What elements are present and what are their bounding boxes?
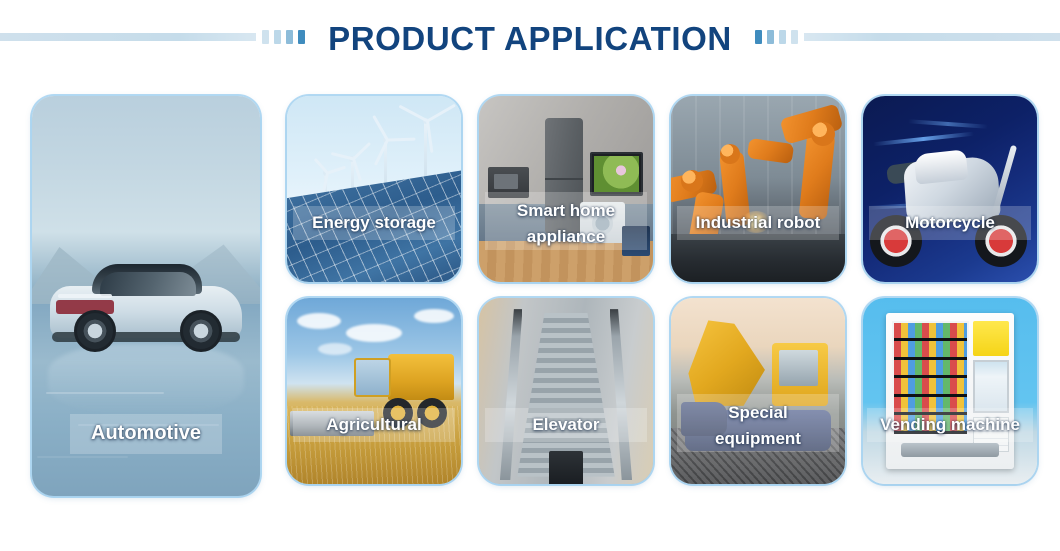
card-label: Industrial robot — [671, 213, 845, 233]
card-label: Elevator — [479, 415, 653, 435]
card-label-line1: Special — [671, 400, 845, 426]
excavator-icon — [671, 298, 845, 484]
vending-machine-icon — [863, 298, 1037, 484]
application-card-agricultural[interactable]: Agricultural — [287, 298, 461, 484]
wind-turbine-solar-icon — [287, 96, 461, 282]
application-card-smart-home-appliance[interactable]: Smart home appliance — [479, 96, 653, 282]
card-label-line1: Smart home — [479, 198, 653, 224]
application-card-energy-storage[interactable]: Energy storage — [287, 96, 461, 282]
motorcycle-icon — [863, 96, 1037, 282]
application-card-special-equipment[interactable]: Special equipment — [671, 298, 845, 484]
application-card-automotive[interactable]: Automotive — [32, 96, 260, 496]
card-label: Energy storage — [287, 213, 461, 233]
card-label: Vending machine — [863, 415, 1037, 435]
card-label: Special equipment — [671, 400, 845, 452]
product-application-banner: PRODUCT APPLICATION — [0, 0, 1060, 551]
card-label: Smart home appliance — [479, 198, 653, 250]
card-label-line2: equipment — [671, 426, 845, 452]
page-title: PRODUCT APPLICATION — [0, 18, 1060, 60]
header: PRODUCT APPLICATION — [0, 0, 1060, 86]
application-card-elevator[interactable]: Elevator — [479, 298, 653, 484]
card-label: Automotive — [32, 422, 260, 445]
escalator-icon — [479, 298, 653, 484]
application-card-vending-machine[interactable]: Vending machine — [863, 298, 1037, 484]
combine-harvester-icon — [287, 298, 461, 484]
home-appliance-icon — [479, 96, 653, 282]
robot-arm-icon — [671, 96, 845, 282]
application-card-motorcycle[interactable]: Motorcycle — [863, 96, 1037, 282]
card-label-line2: appliance — [479, 224, 653, 250]
application-card-grid: Automotive — [0, 86, 1060, 551]
application-card-industrial-robot[interactable]: Industrial robot — [671, 96, 845, 282]
card-label: Agricultural — [287, 415, 461, 435]
card-label: Motorcycle — [863, 213, 1037, 233]
